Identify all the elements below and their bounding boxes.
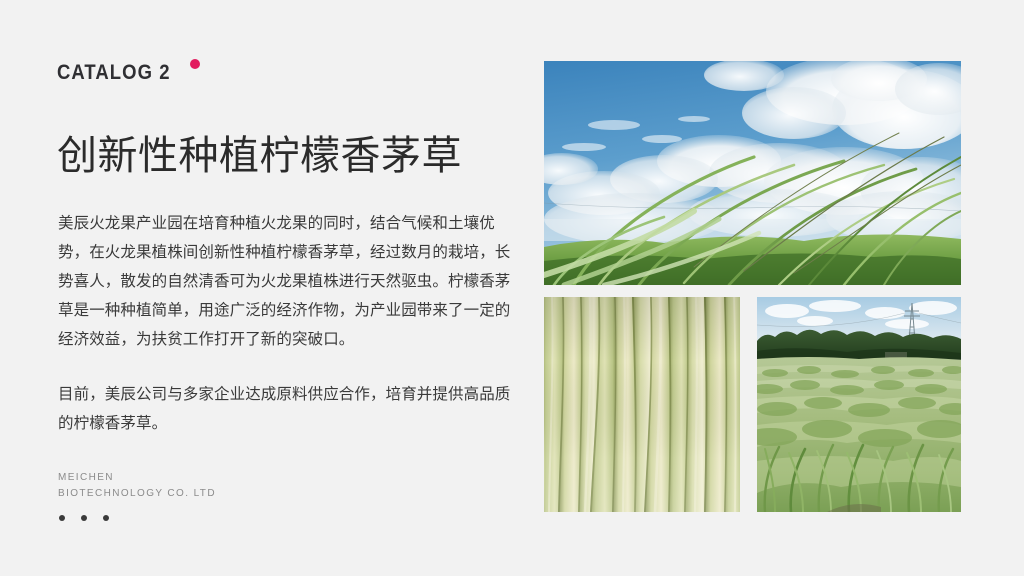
slide-canvas: CATALOG 2 创新性种植柠檬香茅草 美辰火龙果产业园在培育种植火龙果的同时…: [0, 0, 1024, 576]
page-title: 创新性种植柠檬香茅草: [57, 131, 462, 181]
photo-br-graphic: [757, 297, 961, 512]
company-name-line-1: MEICHEN: [58, 470, 216, 486]
catalog-label: CATALOG 2: [57, 62, 171, 84]
photo-bl-graphic: [544, 297, 740, 512]
accent-dot-icon: [190, 59, 200, 69]
lemongrass-field-sky-photo: Lemongrass blades bending against blue s…: [544, 61, 961, 285]
section-eyebrow: CATALOG 2: [57, 62, 200, 84]
body-copy: 美辰火龙果产业园在培育种植火龙果的同时，结合气候和土壤优势，在火龙果植株间创新性…: [58, 209, 513, 438]
company-name-line-2: BIOTECHNOLOGY CO. LTD: [58, 486, 216, 502]
company-footer: MEICHEN BIOTECHNOLOGY CO. LTD: [58, 470, 216, 521]
paragraph-2: 目前，美辰公司与多家企业达成原料供应合作，培育并提供高品质的柠檬香茅草。: [58, 380, 513, 438]
footer-dot-icon: [103, 515, 109, 521]
footer-dots-decoration: [59, 515, 216, 521]
lemongrass-plantation-photo: Rows of lemongrass plantation with treel…: [757, 297, 961, 512]
footer-dot-icon: [81, 515, 87, 521]
content-column: CATALOG 2 创新性种植柠檬香茅草 美辰火龙果产业园在培育种植火龙果的同时…: [57, 0, 527, 576]
footer-dot-icon: [59, 515, 65, 521]
paragraph-1: 美辰火龙果产业园在培育种植火龙果的同时，结合气候和土壤优势，在火龙果植株间创新性…: [58, 209, 513, 354]
photo-top-graphic: [544, 61, 961, 285]
lemongrass-stalks-photo: Close-up of pale green lemongrass stalks…: [544, 297, 740, 512]
